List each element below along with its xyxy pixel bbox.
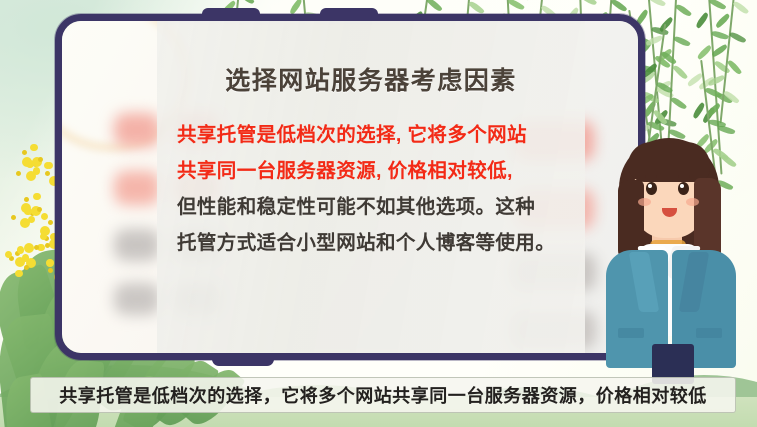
cheek-blush-right xyxy=(686,198,699,206)
slide-surface: 选择网站服务器考虑因素 共享托管是低档次的选择, 它将多个网站 共享同一台服务器… xyxy=(62,21,638,353)
blurred-content-blob xyxy=(114,113,160,147)
frame-tab-bottom xyxy=(212,353,274,366)
slide-title: 选择网站服务器考虑因素 xyxy=(165,61,577,97)
blurred-content-blob xyxy=(114,283,160,315)
jacket-pocket-right xyxy=(696,328,722,338)
frame-tab-top-left xyxy=(202,8,260,21)
presenter-character xyxy=(600,132,757,382)
blurred-content-blob xyxy=(114,171,160,205)
jacket-pocket-left xyxy=(618,328,644,338)
slide-line: 但性能和稳定性可能不如其他选项。这种 xyxy=(177,189,577,225)
cheek-blush-left xyxy=(638,198,651,206)
hair-fringe xyxy=(628,142,710,182)
slide-body: 共享托管是低档次的选择, 它将多个网站 共享同一台服务器资源, 价格相对较低, … xyxy=(165,117,577,261)
eye-highlight-right xyxy=(680,184,684,188)
subtitle-text: 共享托管是低档次的选择，它将多个网站共享同一台服务器资源，价格相对较低 xyxy=(59,382,707,408)
blurred-content-blob xyxy=(114,229,160,261)
eyebrow-left xyxy=(645,175,657,178)
slide-line: 托管方式适合小型网站和个人博客等使用。 xyxy=(177,225,577,261)
subtitle-bar: 共享托管是低档次的选择，它将多个网站共享同一台服务器资源，价格相对较低 xyxy=(30,377,736,413)
slide-line: 共享托管是低档次的选择, 它将多个网站 xyxy=(177,117,577,153)
eyebrow-right xyxy=(678,175,690,178)
slide-line: 共享同一台服务器资源, 价格相对较低, xyxy=(177,153,577,189)
frame-tab-top-right xyxy=(320,8,378,21)
eye-highlight-left xyxy=(648,184,652,188)
device-frame: 选择网站服务器考虑因素 共享托管是低档次的选择, 它将多个网站 共享同一台服务器… xyxy=(55,14,645,360)
slide-text-panel: 选择网站服务器考虑因素 共享托管是低档次的选择, 它将多个网站 共享同一台服务器… xyxy=(157,21,585,353)
